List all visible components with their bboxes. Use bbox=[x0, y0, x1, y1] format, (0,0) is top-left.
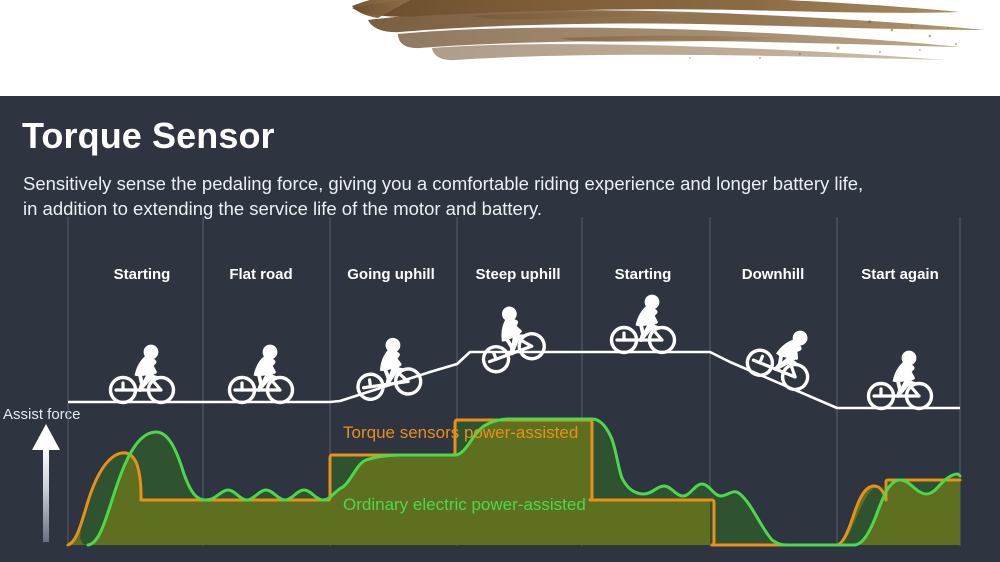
infographic-root: Torque Sensor Sensitively sense the peda… bbox=[0, 0, 1000, 562]
legend-ordinary-electric: Ordinary electric power-assisted bbox=[343, 495, 586, 515]
cyclist-icon-starting-1 bbox=[111, 345, 174, 403]
cyclist-icon-going-uphill bbox=[352, 335, 422, 401]
cyclist-icon-steep-uphill bbox=[469, 299, 548, 375]
legend-torque-sensors: Torque sensors power-assisted bbox=[343, 423, 578, 443]
cyclist-icon-starting-2 bbox=[612, 295, 675, 353]
dark-content-panel: Torque Sensor Sensitively sense the peda… bbox=[0, 96, 1000, 562]
brush-stroke-decoration bbox=[0, 0, 1000, 96]
cyclist-icon-downhill bbox=[744, 316, 824, 393]
terrain-profile-line bbox=[68, 352, 960, 408]
assist-force-chart bbox=[0, 96, 1000, 562]
cyclist-icon-start-again bbox=[869, 351, 932, 409]
top-white-band bbox=[0, 0, 1000, 96]
cyclist-icon-flat-road bbox=[230, 345, 293, 403]
